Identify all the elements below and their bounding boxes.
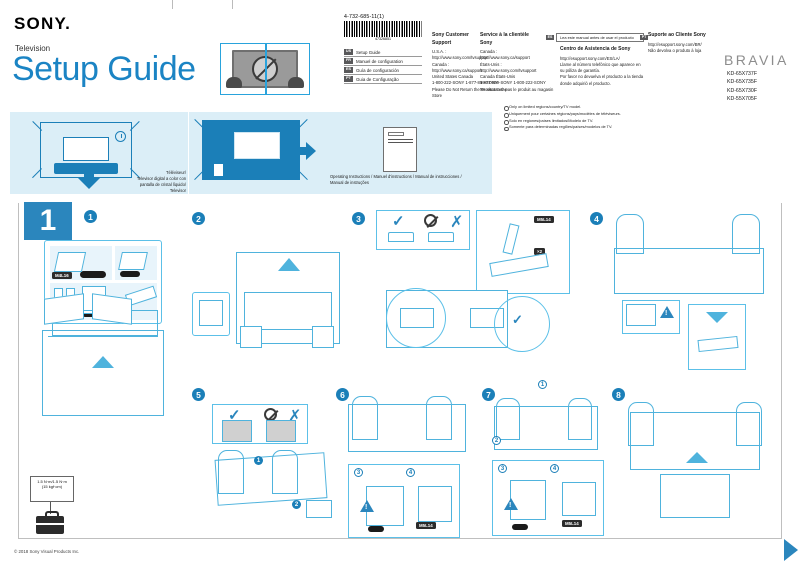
wall-mounted-tv-illustration xyxy=(202,120,300,180)
manual-document-icon xyxy=(383,127,417,172)
hand-left-icon xyxy=(226,77,242,88)
page-title: Setup Guide xyxy=(12,50,196,89)
substep-marker-5: 5 xyxy=(192,388,205,401)
bravia-wordmark: BRAVIA xyxy=(724,52,789,68)
inner-mark-2: 2 xyxy=(292,500,301,509)
floor-mat-graphic xyxy=(306,500,332,518)
screw-label: M5L14 xyxy=(562,520,582,527)
support-line: donde adquirió el producto. xyxy=(560,81,642,87)
carton-flap xyxy=(48,336,158,342)
language-code: ES xyxy=(344,67,353,73)
language-label: Guía de configuración xyxy=(356,68,399,73)
tv-panel-graphic xyxy=(244,292,332,330)
up-arrow-icon xyxy=(278,258,300,271)
language-list: US Setup Guide FR Manuel de configuratio… xyxy=(344,48,422,84)
substep-marker-8: 8 xyxy=(612,388,625,401)
language-label: Manuel de configuration xyxy=(356,59,403,64)
crop-mark-2 xyxy=(232,0,233,9)
torque-line-2: (15 kgf·cm) xyxy=(31,484,73,489)
person-left-graphic xyxy=(352,396,378,440)
band-divider xyxy=(188,112,189,194)
screw-label: M5L14 xyxy=(534,216,554,223)
grip-ok-graphic xyxy=(222,420,252,442)
right-arrow-icon xyxy=(306,142,316,160)
person-left-graphic xyxy=(218,450,244,494)
person-right-graphic xyxy=(736,402,762,446)
substep-marker-3: 3 xyxy=(352,212,365,225)
hand-grip-graphic xyxy=(240,326,262,348)
person-left-graphic xyxy=(616,214,644,254)
language-code: US xyxy=(344,49,353,55)
doc-line xyxy=(388,142,413,143)
substep-marker-4: 4 xyxy=(590,212,603,225)
grip-ng-graphic xyxy=(266,420,296,442)
barcode-number: 47326851 xyxy=(344,37,422,41)
support-title-us: Sony Customer Support xyxy=(432,32,480,47)
step-number-badge: 1 xyxy=(24,202,72,240)
check-mark-ok: ✓ xyxy=(512,312,523,328)
footnote: Somente para determinadas regiões/países… xyxy=(504,124,621,131)
do-not-touch-screen-icon xyxy=(220,43,310,95)
copyright-notice: © 2018 Sony Visual Products Inc. xyxy=(14,549,79,554)
person-right-graphic xyxy=(568,398,592,440)
read-manual-note: Lea este manual antes de usar el product… xyxy=(556,33,644,42)
model-number: KD-55X705F xyxy=(727,95,757,103)
stand-leg-graphic xyxy=(54,252,86,272)
inner-mark-4: 4 xyxy=(406,468,415,477)
substep-marker-2: 2 xyxy=(192,212,205,225)
substep-marker-7: 7 xyxy=(482,388,495,401)
footnote: Only on limited regions/country/TV model… xyxy=(504,104,621,111)
stand-base-ng-graphic xyxy=(428,232,454,242)
tv-stand-final xyxy=(660,474,730,518)
stand-leg-graphic xyxy=(118,252,148,270)
torque-spec-box: 1.5 N·m/1.5 N·m (15 kgf·cm) xyxy=(30,476,74,502)
support-line: http://www.sony.com/tvsupport xyxy=(432,55,480,61)
support-column-fr: Service à la clientèle Sony Canada : htt… xyxy=(480,32,542,93)
cross-mark-no: ✗ xyxy=(450,212,463,232)
support-line: Por favor no devuelva el producto a la t… xyxy=(560,74,642,80)
crop-mark-1 xyxy=(172,0,173,9)
setup-guide-page: SONY. Television Setup Guide 4-732-685-1… xyxy=(0,0,802,567)
footnote-list: Only on limited regions/country/TV model… xyxy=(504,104,621,131)
part-label-block xyxy=(80,271,106,278)
substep-3-screw-detail xyxy=(476,210,570,294)
language-code: PT xyxy=(344,76,353,82)
tv-face-down-graphic xyxy=(614,248,764,294)
carton-side-b xyxy=(92,293,132,325)
support-column-es: Centro de Asistencia de Sony http://esup… xyxy=(560,46,642,87)
person-right-graphic xyxy=(272,450,298,494)
support-title-fr: Service à la clientèle Sony xyxy=(480,32,542,47)
footnote: Solo en regiones/países limitados/Modelo… xyxy=(504,118,621,125)
person-left-graphic xyxy=(628,402,654,446)
inner-mark-3: 3 xyxy=(354,468,363,477)
manual-caption: Operating Instructions / Manuel d'instru… xyxy=(330,174,490,186)
language-label: Guia de Configuração xyxy=(356,77,399,82)
substep-marker-6: 6 xyxy=(336,388,349,401)
inner-mark-1: 1 xyxy=(254,456,263,465)
language-row-us: US Setup Guide xyxy=(344,48,422,57)
warning-triangle-icon xyxy=(360,500,374,512)
stand-upright-graphic xyxy=(562,482,596,516)
support-line: 1-800-222-SONY 1-877-899-SONY xyxy=(432,80,480,86)
language-code: FR xyxy=(344,58,353,64)
footnote: Uniquement pour certaines régions/pays/m… xyxy=(504,111,621,118)
television-graphic xyxy=(63,137,109,161)
support-line: Ne retournez pas le produit au magasin xyxy=(480,87,542,93)
screw-label: M5L14 xyxy=(416,522,436,529)
tv-screen-graphic xyxy=(234,132,280,159)
hand-right-icon xyxy=(288,77,304,88)
inner-mark-1: 1 xyxy=(538,380,547,389)
tv-outline-small xyxy=(626,304,656,326)
down-arrow-icon xyxy=(706,312,728,323)
center-guide-line xyxy=(265,43,267,95)
part-label-block xyxy=(120,271,140,277)
language-row-fr: FR Manuel de configuration xyxy=(344,57,422,66)
model-number: KD-65X730F xyxy=(727,87,757,95)
part-number: 4-732-685-11(1) xyxy=(344,14,384,20)
substep-marker-1: 1 xyxy=(84,210,97,223)
warning-triangle-icon xyxy=(504,498,518,510)
prohibit-icon xyxy=(424,214,437,227)
flag-es: ES xyxy=(546,35,554,40)
plant-icon xyxy=(214,164,223,176)
stand-base-ok-graphic xyxy=(388,232,414,242)
support-column-pt: Suporte ao Cliente Sony http://esupport.… xyxy=(648,32,744,54)
person-right-graphic xyxy=(426,396,452,440)
support-line: Store xyxy=(432,93,480,99)
up-arrow-icon xyxy=(686,452,708,463)
barcode xyxy=(344,21,422,37)
language-row-es: ES Guía de configuración xyxy=(344,66,422,75)
part-label-block xyxy=(368,526,384,532)
hand-grip-graphic xyxy=(199,300,223,326)
flag-pt: PT xyxy=(640,35,648,40)
doc-header xyxy=(388,132,404,136)
person-right-graphic xyxy=(732,214,760,254)
support-line: 1-877-899-SONY 1-800-222-SONY xyxy=(480,80,542,86)
tv-caption: Téléviseur/ Televisor digital a color co… xyxy=(92,170,186,194)
support-title-es: Centro de Asistencia de Sony xyxy=(560,46,642,54)
part-label-screw: M4L16 xyxy=(52,272,72,279)
model-number: KD-65X737F xyxy=(727,70,757,78)
inner-mark-4: 4 xyxy=(550,464,559,473)
stand-upright-graphic xyxy=(418,486,452,522)
warning-triangle-icon xyxy=(660,306,674,318)
inner-mark-3: 3 xyxy=(498,464,507,473)
doc-line xyxy=(388,139,413,140)
support-title-pt: Suporte ao Cliente Sony xyxy=(648,32,744,40)
sony-logo: SONY. xyxy=(14,14,71,34)
carton-graphic xyxy=(42,330,164,416)
down-arrow-icon xyxy=(78,178,100,189)
support-column-us: Sony Customer Support U.S.A. : http://ww… xyxy=(432,32,480,99)
check-mark-ok: ✓ xyxy=(392,212,405,230)
zoom-circle-left xyxy=(386,288,446,348)
clock-icon xyxy=(115,131,126,142)
language-label: Setup Guide xyxy=(356,50,380,55)
next-page-arrow-icon xyxy=(784,539,798,561)
hand-grip-graphic xyxy=(312,326,334,348)
part-label-block xyxy=(512,524,528,530)
language-row-pt: PT Guia de Configuração xyxy=(344,75,422,84)
up-arrow-icon xyxy=(92,356,114,368)
toolbox-icon xyxy=(36,516,64,534)
person-left-graphic xyxy=(496,398,520,440)
inner-mark-2: 2 xyxy=(492,436,501,445)
model-number-list: KD-65X737F KD-65X735F KD-65X730F KD-55X7… xyxy=(727,70,757,104)
model-number: KD-65X735F xyxy=(727,78,757,86)
